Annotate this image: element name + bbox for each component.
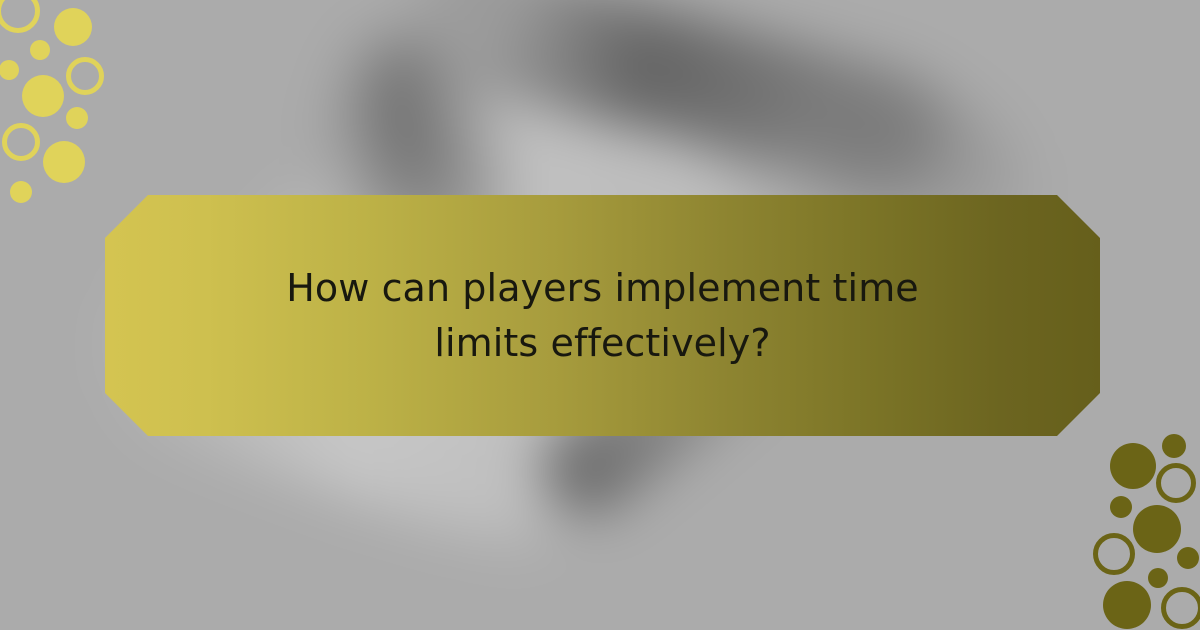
slide-canvas: How can players implement time limits ef… xyxy=(0,0,1200,630)
page-title: How can players implement time limits ef… xyxy=(203,261,1003,371)
title-banner: How can players implement time limits ef… xyxy=(105,195,1100,436)
